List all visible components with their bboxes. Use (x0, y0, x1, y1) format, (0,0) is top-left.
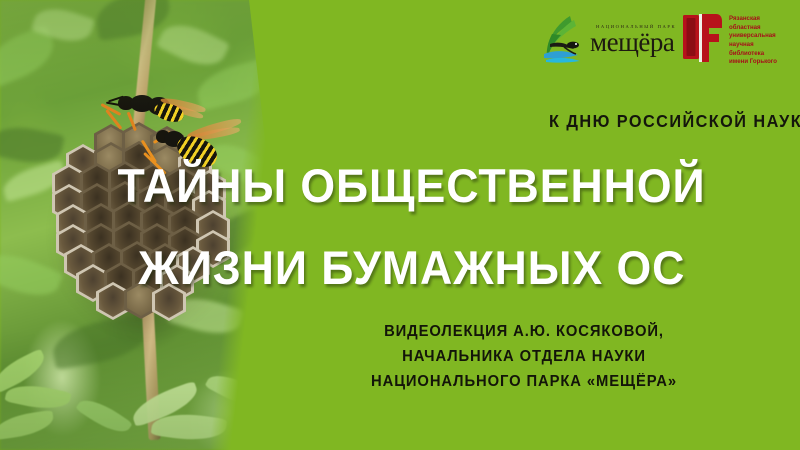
logo-ryazan-gorky-library[interactable]: Рязанская областная универсальная научна… (682, 12, 777, 67)
poster-canvas: НАЦИОНАЛЬНЫЙ ПАРК мещёра Рязанская облас… (0, 0, 800, 450)
library-line: имени Горького (729, 58, 777, 67)
byline-line-2: НАЧАЛЬНИКА ОТДЕЛА НАУКИ (259, 345, 789, 370)
meshchera-wordmark: НАЦИОНАЛЬНЫЙ ПАРК мещёра (590, 24, 676, 54)
library-line: научная (729, 41, 777, 50)
library-line: областная (729, 24, 777, 33)
logo-meshchera-national-park[interactable]: НАЦИОНАЛЬНЫЙ ПАРК мещёра (540, 14, 676, 64)
library-name-lines: Рязанская областная универсальная научна… (729, 12, 777, 67)
title-line-1-text: ТАЙНЫ ОБЩЕСТВЕННОЙ (118, 158, 706, 213)
library-line: универсальная (729, 32, 777, 41)
meshchera-word: мещёра (590, 30, 676, 54)
page-title-line-1: ТАЙНЫ ОБЩЕСТВЕННОЙ (0, 158, 800, 213)
logo-row: НАЦИОНАЛЬНЫЙ ПАРК мещёра Рязанская облас… (540, 12, 790, 74)
byline-block: ВИДЕОЛЕКЦИЯ А.Ю. КОСЯКОВОЙ, НАЧАЛЬНИКА О… (248, 320, 800, 395)
title-line-2-text: ЖИЗНИ БУМАЖНЫХ ОС (139, 240, 686, 295)
library-line: Рязанская (729, 15, 777, 24)
byline-line-3: НАЦИОНАЛЬНОГО ПАРКА «МЕЩЁРА» (259, 370, 789, 395)
open-book-icon (682, 12, 724, 64)
national-park-emblem-icon (540, 14, 586, 64)
kicker-text: К ДНЮ РОССИЙСКОЙ НАУКИ (549, 111, 800, 132)
library-line: библиотека (729, 50, 777, 59)
page-title-line-2: ЖИЗНИ БУМАЖНЫХ ОС (0, 240, 800, 295)
byline-line-1: ВИДЕОЛЕКЦИЯ А.Ю. КОСЯКОВОЙ, (259, 320, 789, 345)
